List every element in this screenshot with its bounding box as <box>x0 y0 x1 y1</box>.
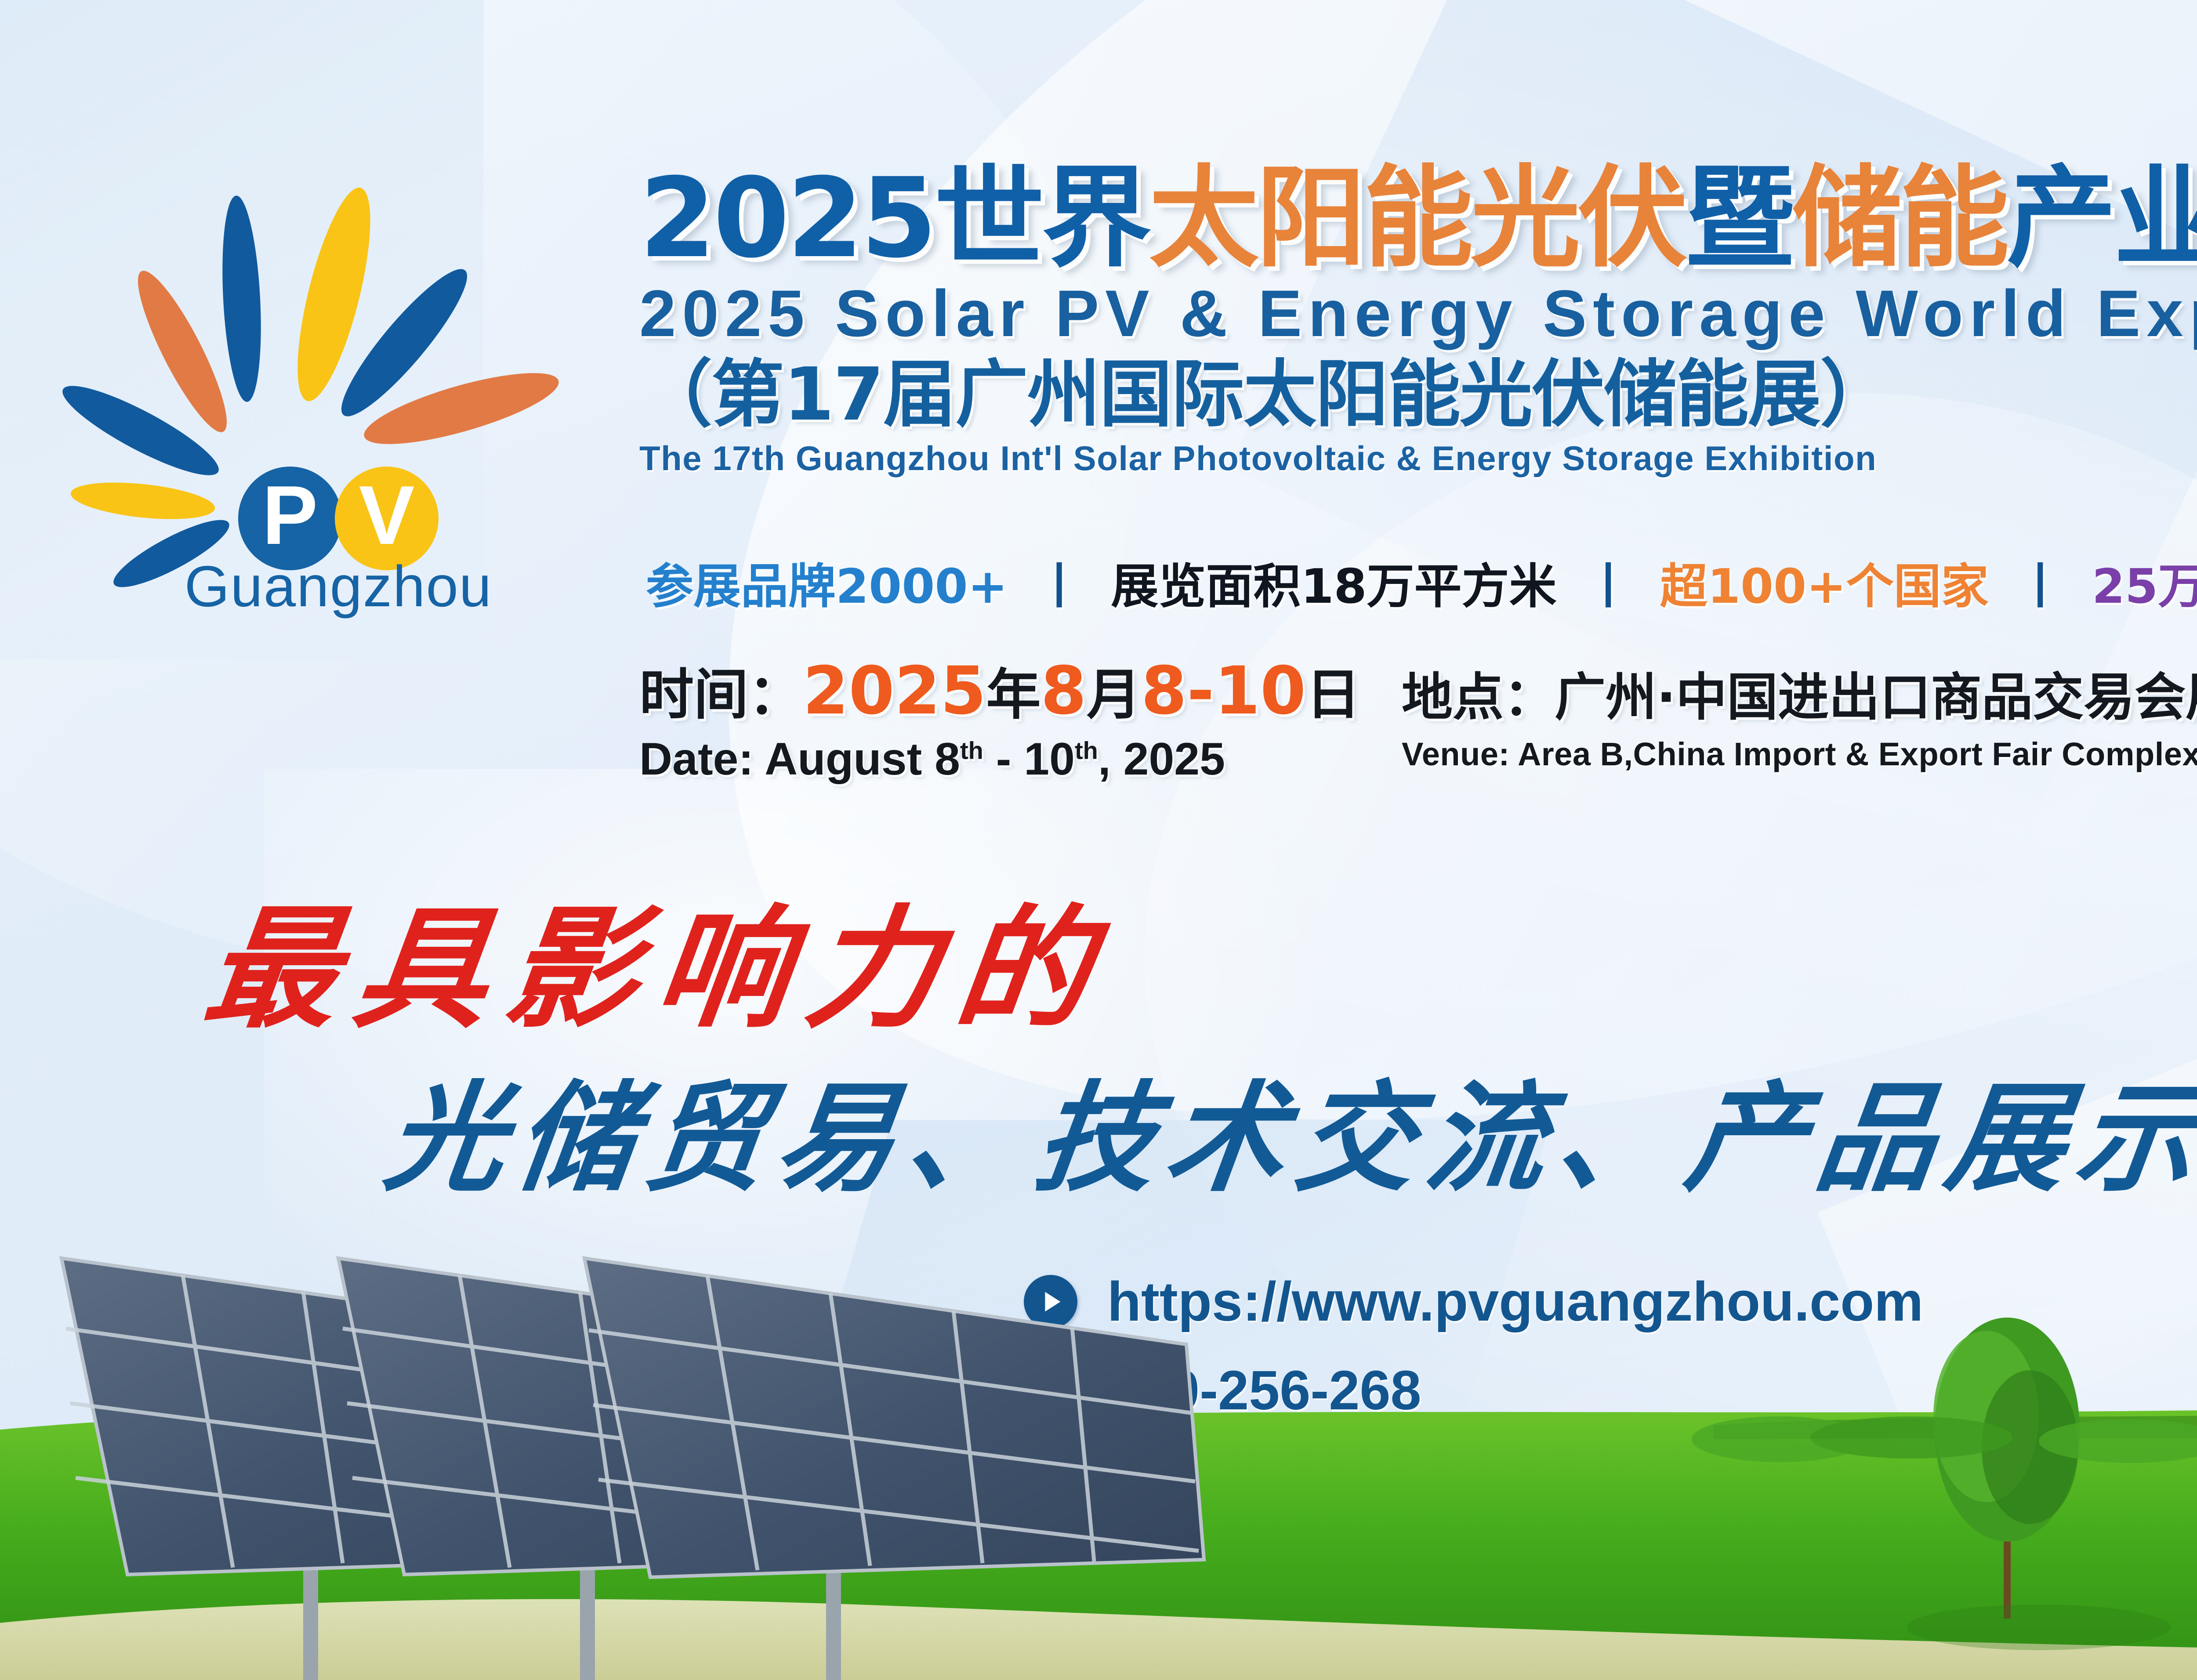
event-venue-chinese: 地点：广州·中国进出口商品交易会展馆B区 <box>1402 672 2197 723</box>
stat-item-brands: 参展品牌2000+ <box>646 563 1008 611</box>
date-en-mid: - 10 <box>983 734 1075 785</box>
logo-wordmark: Guangzhou <box>185 554 493 619</box>
event-date-block: 时间：2025年8月8-10日 Date: August 8th - 10th,… <box>639 658 1360 782</box>
pv-guangzhou-logo: P V Guangzhou <box>53 167 571 633</box>
date-sep-day: 日 <box>1306 663 1360 727</box>
date-en-sup-1: th <box>960 736 983 764</box>
tree-shadow-1 <box>1907 1604 2171 1650</box>
date-year: 2025 <box>803 653 986 729</box>
logo-letter-v: V <box>359 469 415 562</box>
title-part-5: 产业博览会 <box>2007 154 2197 282</box>
event-subtitle-english: The 17th Guangzhou Int'l Solar Photovolt… <box>639 441 2197 475</box>
stats-strip: 参展品牌2000+ 丨 展览面积18万平方米 丨 超100+个国家 丨 25万+… <box>646 563 2197 611</box>
solar-panel-row-3 <box>584 1258 1204 1577</box>
headline-block: 2025世界太阳能光伏暨储能产业博览会 2025 Solar PV & Ener… <box>639 163 2197 475</box>
date-en-prefix: Date: August 8 <box>639 734 960 785</box>
shrub-band <box>1692 1416 2197 1463</box>
stat-separator-1: 丨 <box>1024 563 1095 611</box>
event-subtitle-chinese: （第17届广州国际太阳能光伏储能展） <box>639 358 2197 431</box>
slogan-line-1: 最具影响力的 <box>199 903 1117 1035</box>
date-en-sup-2: th <box>1075 736 1098 764</box>
title-part-4: 储能 <box>1792 154 2007 282</box>
slogan-line-2: 光储贸易、技术交流、产品展示平台! <box>379 1079 2197 1197</box>
stat-item-countries: 超100+个国家 <box>1660 563 1989 611</box>
stat-item-area: 展览面积18万平方米 <box>1111 563 1556 611</box>
venue-value-cn: 广州·中国进出口商品交易会展馆B区 <box>1555 668 2197 727</box>
stat-separator-3: 丨 <box>2005 563 2075 611</box>
title-part-1: 2025世界 <box>639 154 1149 282</box>
date-sep-month: 月 <box>1087 663 1141 727</box>
scenery-illustration <box>0 1241 2197 1680</box>
date-days: 8-10 <box>1141 653 1306 729</box>
event-title-english: 2025 Solar PV & Energy Storage World Exp… <box>639 280 2197 346</box>
title-part-2: 太阳能光伏 <box>1149 154 1685 282</box>
date-month: 8 <box>1041 653 1087 729</box>
event-venue-english: Venue: Area B,China Import & Export Fair… <box>1402 738 2197 771</box>
venue-label-cn: 地点： <box>1402 668 1555 727</box>
event-title-main: 2025世界太阳能光伏暨储能产业博览会 <box>639 163 2197 273</box>
title-part-3: 暨 <box>1685 154 1792 282</box>
stat-separator-2: 丨 <box>1573 563 1643 611</box>
date-sep-year: 年 <box>986 663 1041 727</box>
date-en-suffix: , 2025 <box>1098 734 1225 785</box>
stat-item-visitors: 25万+名专业观众 <box>2092 563 2197 611</box>
event-venue-block: 地点：广州·中国进出口商品交易会展馆B区 Venue: Area B,China… <box>1402 672 2197 771</box>
promo-poster: P V Guangzhou 2025世界太阳能光伏暨储能产业博览会 2025 S… <box>0 0 2197 1680</box>
event-date-chinese: 时间：2025年8月8-10日 <box>639 658 1360 724</box>
event-date-english: Date: August 8th - 10th, 2025 <box>639 736 1360 782</box>
logo-letter-p: P <box>262 469 318 562</box>
date-label-cn: 时间： <box>639 663 803 727</box>
